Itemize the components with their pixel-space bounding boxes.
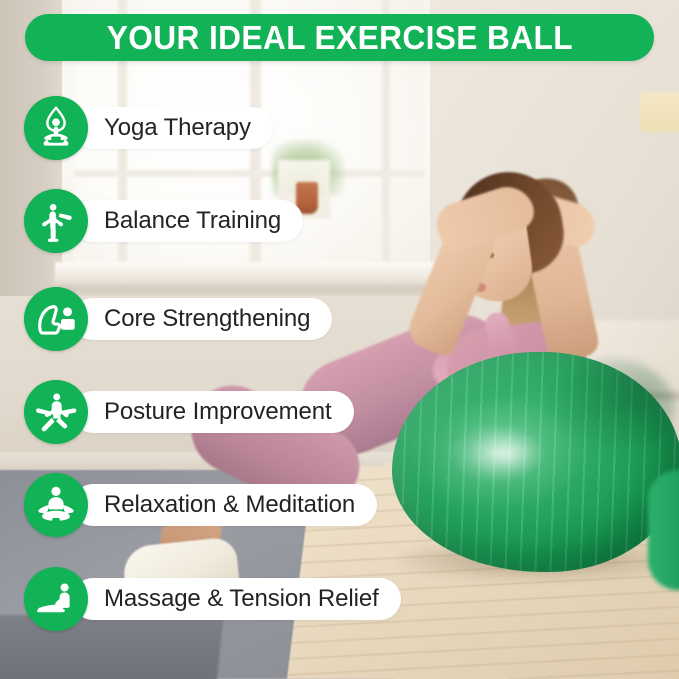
feature-label-pill: Relaxation & Meditation [72, 484, 377, 526]
ball-shading [545, 358, 675, 458]
feature-label-pill: Massage & Tension Relief [72, 578, 401, 620]
crunch-on-ball-icon [24, 287, 88, 351]
feature-label: Relaxation & Meditation [104, 491, 355, 519]
window-mullion [74, 170, 424, 177]
window-sill [55, 262, 435, 288]
page-title: YOUR IDEAL EXERCISE BALL [106, 19, 572, 57]
feature-row[interactable]: Yoga Therapy [24, 96, 273, 160]
meditation-lotus-icon [24, 473, 88, 537]
feature-label-pill: Posture Improvement [72, 391, 354, 433]
feature-label: Balance Training [104, 207, 281, 235]
warrior-stretch-icon [24, 380, 88, 444]
feature-row[interactable]: Massage & Tension Relief [24, 567, 401, 631]
feature-row[interactable]: Balance Training [24, 189, 303, 253]
feature-label-pill: Balance Training [72, 200, 303, 242]
ball-edge [648, 470, 679, 590]
feature-row[interactable]: Core Strengthening [24, 287, 332, 351]
lotus-arms-raised-icon [24, 96, 88, 160]
feature-row[interactable]: Relaxation & Meditation [24, 473, 377, 537]
feature-label: Yoga Therapy [104, 114, 251, 142]
ball-highlight [470, 430, 544, 476]
tree-pose-icon [24, 189, 88, 253]
feature-row[interactable]: Posture Improvement [24, 380, 354, 444]
feature-label: Posture Improvement [104, 398, 332, 426]
product-infographic: YOUR IDEAL EXERCISE BALL Yoga Therapy [0, 0, 679, 679]
feature-label-pill: Yoga Therapy [72, 107, 273, 149]
feature-label: Core Strengthening [104, 305, 310, 333]
feature-label: Massage & Tension Relief [104, 585, 379, 613]
feature-label-pill: Core Strengthening [72, 298, 332, 340]
title-banner: YOUR IDEAL EXERCISE BALL [25, 14, 654, 61]
massage-table-icon [24, 567, 88, 631]
